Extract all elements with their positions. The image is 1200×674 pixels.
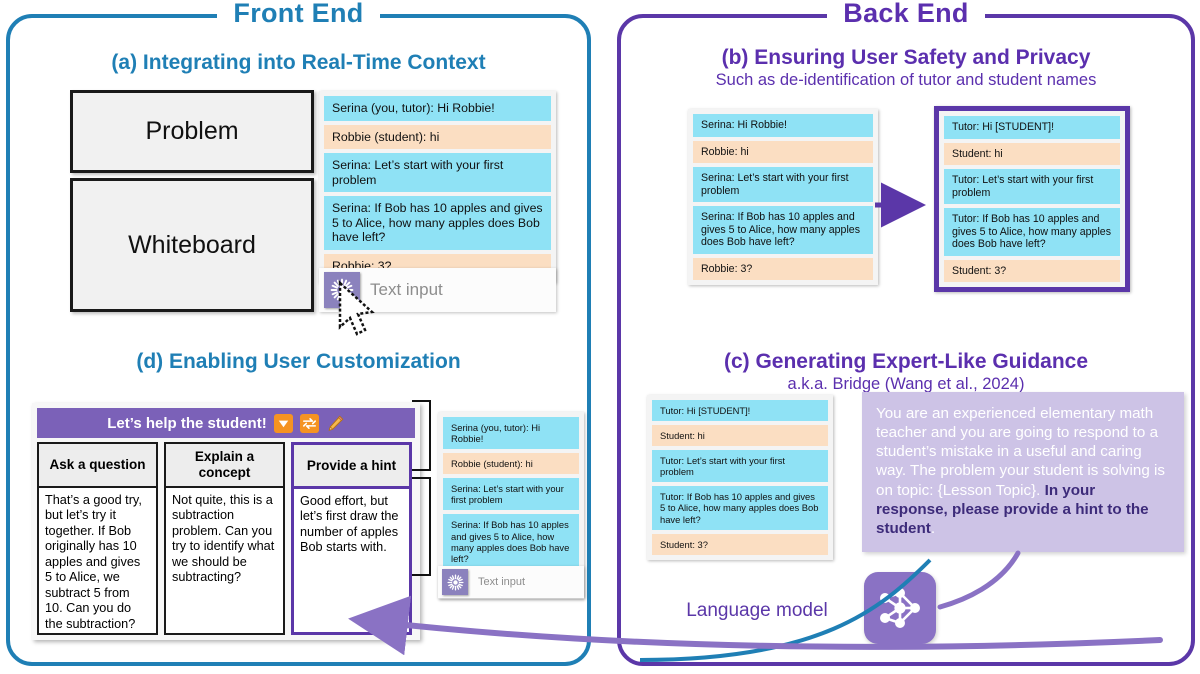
prompt-period: . bbox=[931, 520, 935, 537]
dropdown-triangle-icon[interactable] bbox=[274, 414, 293, 433]
chat-bubble: Serina: If Bob has 10 apples and gives 5… bbox=[443, 514, 579, 568]
diagram-root: Front End (a) Integrating into Real-Time… bbox=[0, 0, 1200, 674]
chat-input-bar[interactable]: Text input bbox=[319, 268, 556, 312]
customization-option-2[interactable]: Explain a conceptNot quite, this is a su… bbox=[164, 442, 285, 635]
section-c-title-text: (c) Generating Expert-Like Guidance bbox=[724, 350, 1088, 373]
chat-bubble: Student: 3? bbox=[652, 534, 828, 555]
chat-bubble: Serina: If Bob has 10 apples and gives 5… bbox=[324, 196, 551, 250]
customization-header: Let’s help the student! bbox=[37, 408, 415, 438]
customization-options[interactable]: Ask a questionThat’s a good try, but let… bbox=[37, 442, 415, 635]
chat-input-bar-preview[interactable]: Text input bbox=[438, 566, 584, 598]
back-end-panel: Back End (b) Ensuring User Safety and Pr… bbox=[617, 14, 1195, 666]
section-d-title: (d) Enabling User Customization bbox=[10, 350, 587, 374]
section-b-title-text: (b) Ensuring User Safety and Privacy bbox=[722, 46, 1091, 69]
chat-panel-identified: Serina: Hi Robbie!Robbie: hiSerina: Let’… bbox=[688, 109, 878, 285]
problem-label: Problem bbox=[145, 117, 238, 146]
chat-panel-realtime[interactable]: Serina (you, tutor): Hi Robbie!Robbie (s… bbox=[319, 91, 556, 283]
regenerate-icon[interactable] bbox=[300, 414, 319, 433]
chat-bubble: Serina (you, tutor): Hi Robbie! bbox=[443, 417, 579, 449]
chat-bubble: Serina (you, tutor): Hi Robbie! bbox=[324, 96, 551, 121]
sparkle-icon[interactable] bbox=[442, 569, 468, 595]
back-end-title-text: Back End bbox=[827, 0, 984, 28]
chat-bubble: Student: hi bbox=[944, 143, 1120, 166]
section-b-subtitle: Such as de-identification of tutor and s… bbox=[621, 71, 1191, 90]
customization-widget[interactable]: Let’s help the student! bbox=[32, 403, 420, 640]
chat-bubble: Serina: If Bob has 10 apples and gives 5… bbox=[693, 206, 873, 254]
prompt-box: You are an experienced elementary math t… bbox=[862, 392, 1184, 552]
front-end-title-text: Front End bbox=[217, 0, 379, 28]
neural-network-icon bbox=[864, 572, 936, 644]
prompt-plain-text: You are an experienced elementary math t… bbox=[876, 405, 1165, 499]
section-c-title: (c) Generating Expert-Like Guidance a.k.… bbox=[621, 350, 1191, 394]
chat-bubble: Tutor: If Bob has 10 apples and gives 5 … bbox=[652, 486, 828, 529]
front-end-title: Front End bbox=[10, 0, 587, 29]
whiteboard-box: Whiteboard bbox=[70, 178, 314, 312]
chat-bubble: Serina: Let’s start with your first prob… bbox=[693, 167, 873, 202]
chat-input-placeholder-preview: Text input bbox=[478, 576, 525, 588]
sparkle-icon[interactable] bbox=[324, 272, 360, 308]
chat-bubble: Tutor: Hi [STUDENT]! bbox=[944, 116, 1120, 139]
customization-header-label: Let’s help the student! bbox=[107, 415, 266, 432]
chat-bubble: Tutor: Let’s start with your first probl… bbox=[944, 169, 1120, 204]
option-tab-label[interactable]: Explain a concept bbox=[164, 442, 285, 486]
chat-bubble: Student: 3? bbox=[944, 260, 1120, 283]
pencil-icon[interactable] bbox=[326, 414, 345, 433]
chat-bubble: Tutor: If Bob has 10 apples and gives 5 … bbox=[944, 208, 1120, 256]
whiteboard-label: Whiteboard bbox=[128, 231, 256, 260]
problem-box: Problem bbox=[70, 90, 314, 173]
chat-panel-context: Tutor: Hi [STUDENT]!Student: hiTutor: Le… bbox=[647, 395, 833, 560]
section-b-title: (b) Ensuring User Safety and Privacy Suc… bbox=[621, 46, 1191, 90]
chat-bubble: Tutor: Hi [STUDENT]! bbox=[652, 400, 828, 421]
chat-bubble: Robbie: 3? bbox=[693, 258, 873, 281]
language-model-label: Language model bbox=[667, 600, 847, 622]
option-tab-label[interactable]: Ask a question bbox=[37, 442, 158, 486]
chat-bubble: Student: hi bbox=[652, 425, 828, 446]
chat-bubble: Tutor: Let’s start with your first probl… bbox=[652, 450, 828, 482]
chat-bubble: Robbie (student): hi bbox=[324, 125, 551, 150]
chat-input-placeholder: Text input bbox=[370, 280, 443, 300]
option-tab-label[interactable]: Provide a hint bbox=[291, 442, 412, 486]
customization-option-3[interactable]: Provide a hintGood effort, but let’s fir… bbox=[291, 442, 412, 635]
back-end-title: Back End bbox=[621, 0, 1191, 29]
front-end-panel: Front End (a) Integrating into Real-Time… bbox=[6, 14, 591, 666]
chat-bubble: Serina: Let’s start with your first prob… bbox=[443, 478, 579, 510]
section-a-title: (a) Integrating into Real-Time Context bbox=[10, 51, 587, 75]
option-response-text: Good effort, but let’s first draw the nu… bbox=[291, 486, 412, 635]
customization-option-1[interactable]: Ask a questionThat’s a good try, but let… bbox=[37, 442, 158, 635]
chat-bubble: Serina: Hi Robbie! bbox=[693, 114, 873, 137]
chat-bubble: Robbie: hi bbox=[693, 141, 873, 164]
option-response-text: Not quite, this is a subtraction problem… bbox=[164, 486, 285, 635]
chat-bubble: Robbie (student): hi bbox=[443, 453, 579, 474]
chat-bubble: Serina: Let’s start with your first prob… bbox=[324, 153, 551, 192]
chat-panel-deidentified: Tutor: Hi [STUDENT]!Student: hiTutor: Le… bbox=[934, 106, 1130, 292]
option-response-text: That’s a good try, but let’s try it toge… bbox=[37, 486, 158, 635]
